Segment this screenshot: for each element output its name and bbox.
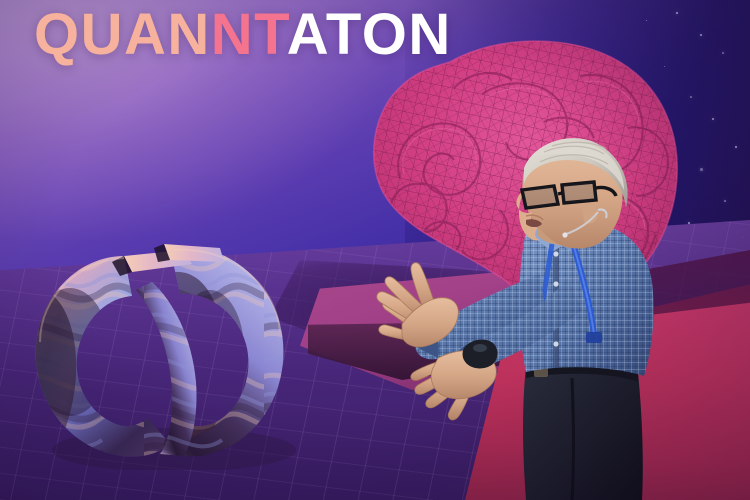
presenter-figure	[376, 128, 706, 500]
stage-screenshot: QUANNTATON	[0, 0, 750, 500]
title-part-1: QUAN	[34, 2, 211, 67]
title-part-3: ATON	[287, 2, 452, 67]
title-part-2: NT	[211, 2, 287, 67]
page-title: QUANNTATON	[34, 6, 452, 64]
marbled-omega-sculpture	[24, 232, 304, 470]
